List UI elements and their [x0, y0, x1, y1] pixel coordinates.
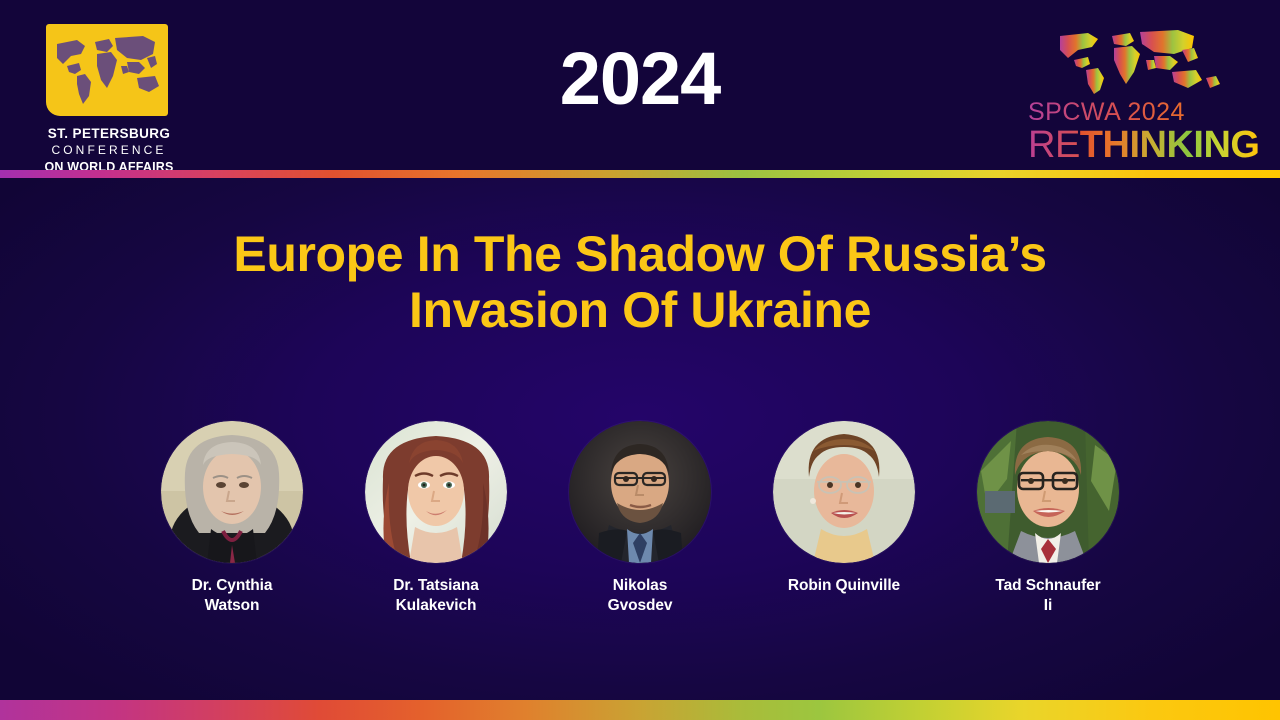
speaker-name-line1: Nikolas [608, 576, 673, 596]
spcwa-year-text: SPCWA 2024 [1028, 100, 1244, 125]
portrait-tad-schnaufer-ii [977, 421, 1119, 563]
speaker-name: Dr. Tatsiana Kulakevich [393, 576, 479, 616]
speaker-name: Dr. Cynthia Watson [192, 576, 273, 616]
speaker-name-line1: Robin Quinville [788, 576, 900, 596]
portrait-cynthia-watson [161, 421, 303, 563]
conference-name: ST. PETERSBURG CONFERENCE ON WORLD AFFAI… [34, 125, 184, 175]
rethinking-wordmark: SPCWA 2024 RETHINKING [1028, 100, 1244, 166]
speaker-list: Dr. Cynthia Watson [0, 421, 1280, 616]
portrait-robin-quinville [773, 421, 915, 563]
slide-body: Europe In The Shadow Of Russia’s Invasio… [0, 178, 1280, 700]
rethinking-world-map-icon [1054, 26, 1230, 96]
speaker-card[interactable]: Robin Quinville [771, 421, 917, 596]
speaker-name: Nikolas Gvosdev [608, 576, 673, 616]
header-rainbow-divider [0, 170, 1280, 178]
page-title-line2: Invasion Of Ukraine [0, 282, 1280, 338]
portrait-tatsiana-kulakevich [365, 421, 507, 563]
spcwa-rethinking-logo: SPCWA 2024 RETHINKING [1028, 26, 1244, 158]
speaker-name-line2: Kulakevich [393, 596, 479, 616]
portrait-nikolas-gvosdev [569, 421, 711, 563]
speaker-name-line1: Tad Schnaufer [995, 576, 1100, 596]
speaker-name-line2: Ii [995, 596, 1100, 616]
speaker-card[interactable]: Dr. Cynthia Watson [159, 421, 305, 616]
speaker-name-line2: Gvosdev [608, 596, 673, 616]
speaker-card[interactable]: Dr. Tatsiana Kulakevich [363, 421, 509, 616]
speaker-name-line1: Dr. Tatsiana [393, 576, 479, 596]
rethinking-thinking: THINKING [1080, 124, 1260, 166]
footer-rainbow-bar [0, 700, 1280, 720]
presentation-slide: ST. PETERSBURG CONFERENCE ON WORLD AFFAI… [0, 0, 1280, 720]
conference-name-line2: CONFERENCE [34, 143, 184, 159]
speaker-name: Robin Quinville [788, 576, 900, 596]
slide-header: ST. PETERSBURG CONFERENCE ON WORLD AFFAI… [0, 0, 1280, 170]
page-title: Europe In The Shadow Of Russia’s Invasio… [0, 226, 1280, 338]
speaker-card[interactable]: Tad Schnaufer Ii [975, 421, 1121, 616]
rethinking-text: RETHINKING [1028, 126, 1244, 166]
rethinking-re: RE [1028, 124, 1080, 166]
conference-name-line1: ST. PETERSBURG [34, 125, 184, 143]
speaker-name-line1: Dr. Cynthia [192, 576, 273, 596]
page-title-line1: Europe In The Shadow Of Russia’s [0, 226, 1280, 282]
speaker-name-line2: Watson [192, 596, 273, 616]
speaker-name: Tad Schnaufer Ii [995, 576, 1100, 616]
speaker-card[interactable]: Nikolas Gvosdev [567, 421, 713, 616]
